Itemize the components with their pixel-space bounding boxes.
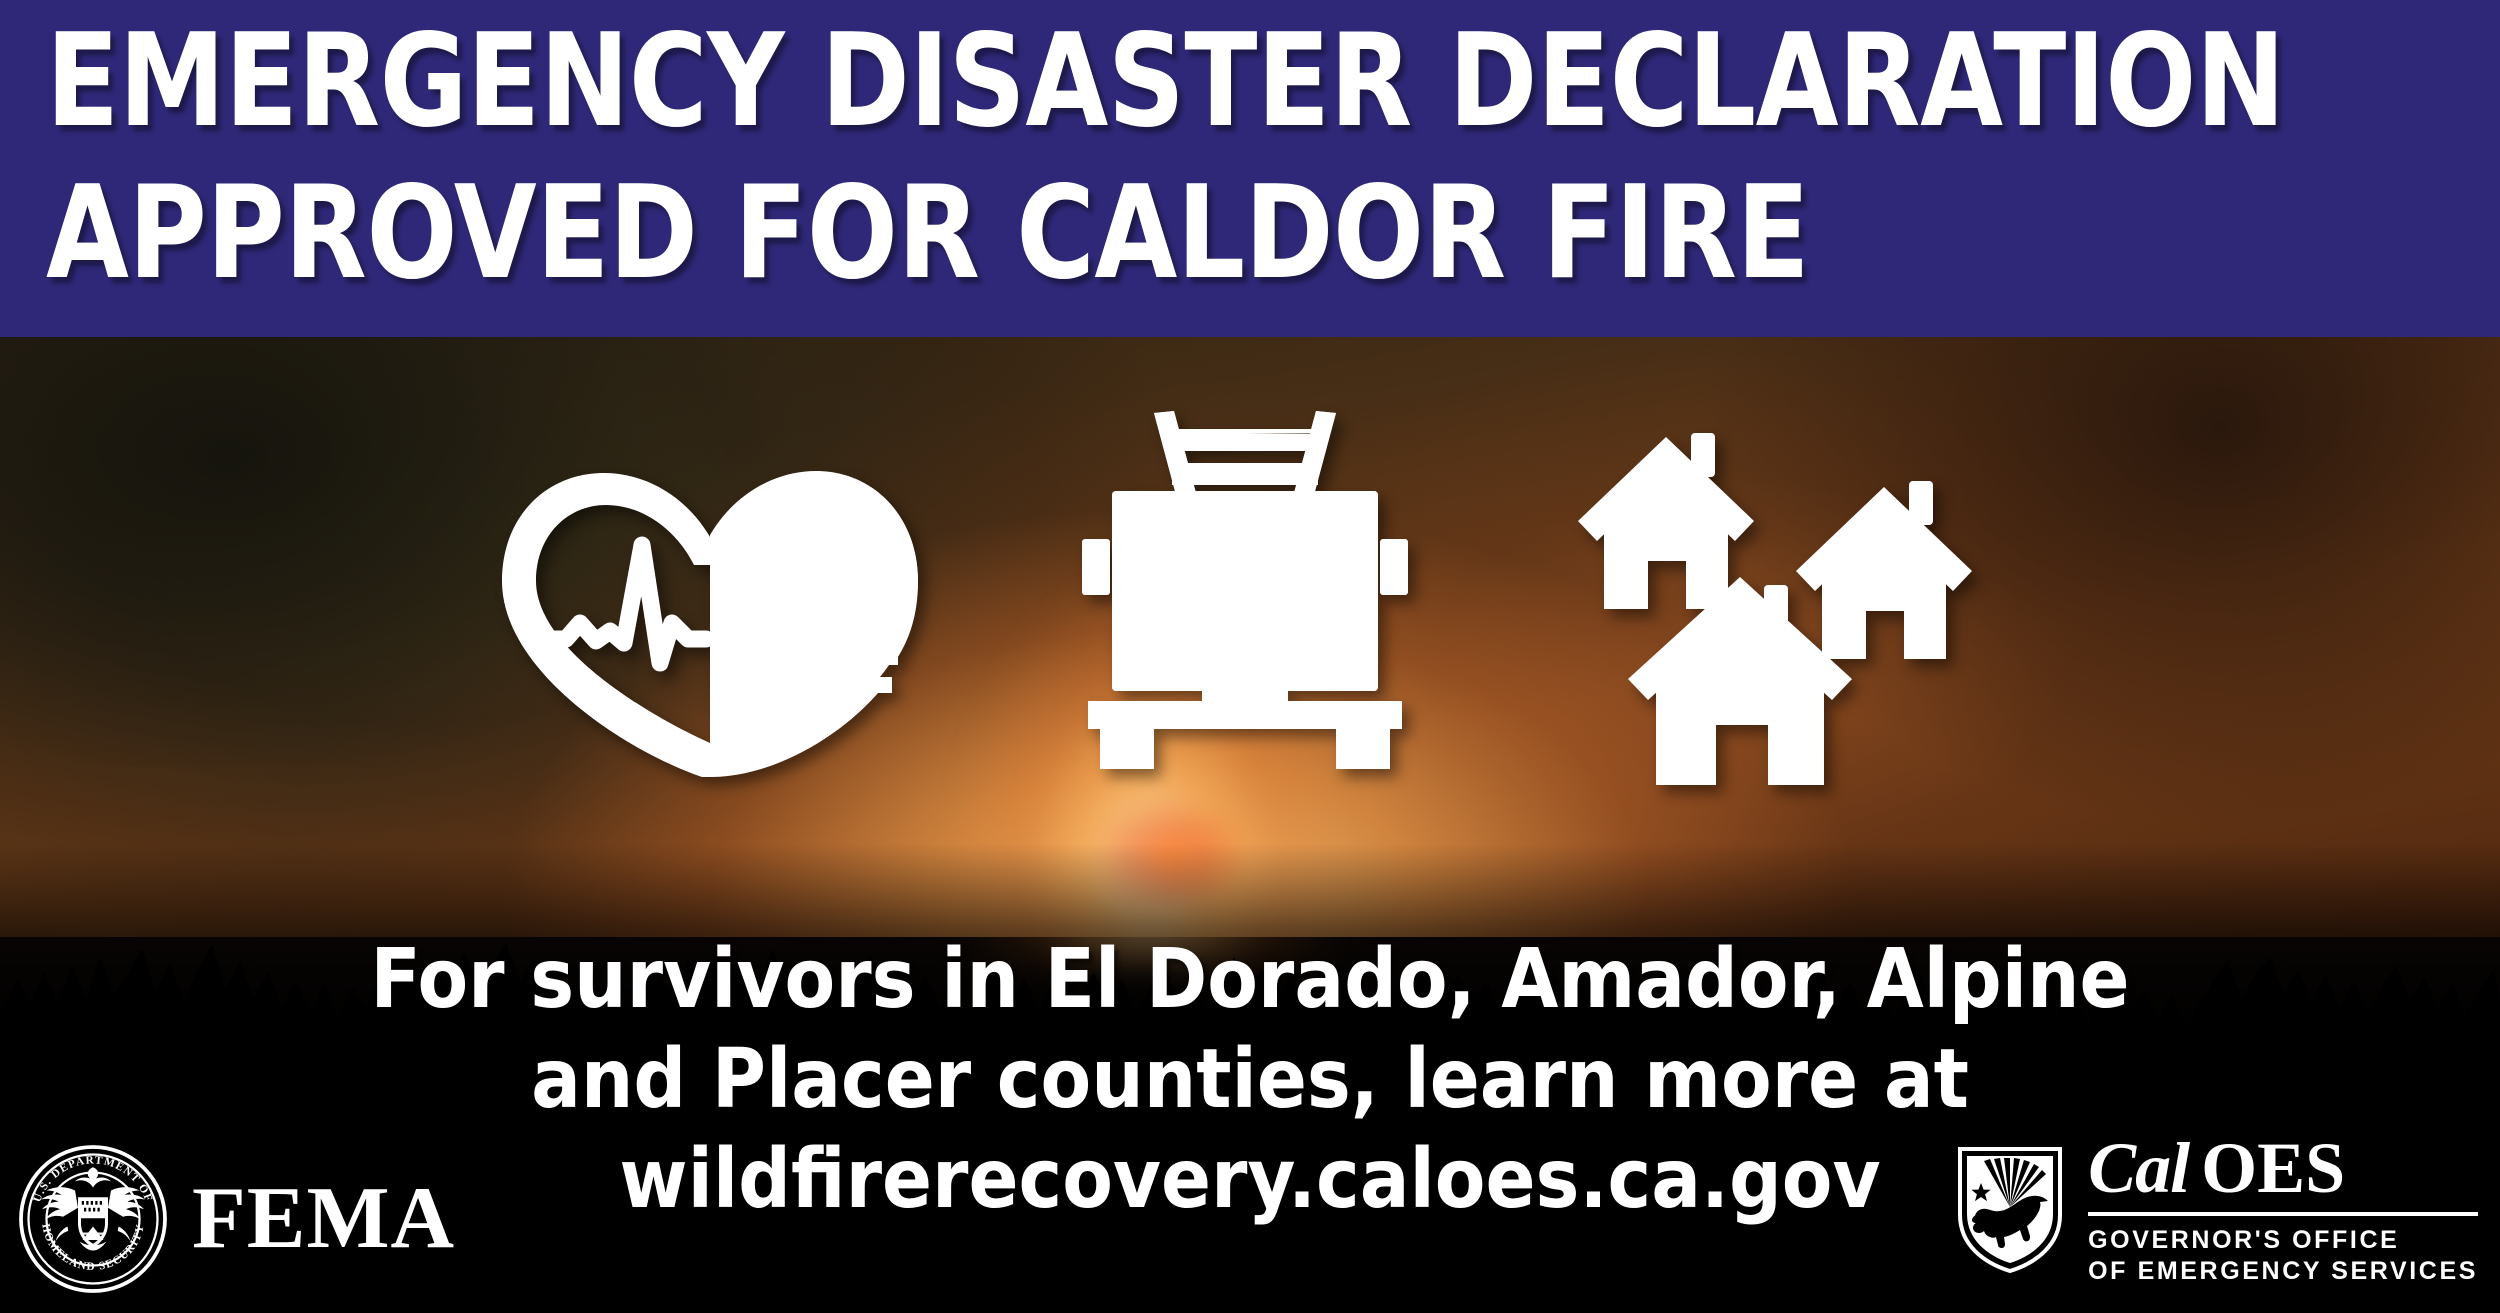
caloes-subtitle-line-2: OF EMERGENCY SERVICES [2088,1256,2478,1287]
body-line-2: and Placer counties, learn more at [0,1030,2500,1130]
fire-truck-icon [1080,405,1410,805]
houses-icon [1570,425,2000,785]
caloes-cal-text: Cal [2088,1128,2189,1208]
caloes-divider [2088,1212,2478,1216]
dhs-seal-icon: U.S. DEPARTMENT OF HOMELAND SECURITY [18,1144,168,1294]
fema-wordmark: FEMA [192,1175,455,1263]
caloes-oes-text: OES [2201,1128,2345,1208]
california-bear-shield-icon [1954,1143,2066,1275]
heart-pulse-icon [500,425,920,785]
header-band: EMERGENCY DISASTER DECLARATION APPROVED … [0,0,2500,337]
headline-line-2: APPROVED FOR CALDOR FIRE [46,158,2297,310]
caloes-wordmark: CalOES [2088,1131,2478,1205]
page-title: EMERGENCY DISASTER DECLARATION APPROVED … [46,6,2297,310]
icon-row [0,380,2500,830]
caloes-text-block: CalOES GOVERNOR'S OFFICE OF EMERGENCY SE… [2088,1131,2478,1287]
headline-line-1: EMERGENCY DISASTER DECLARATION [46,6,2297,158]
fema-logo: U.S. DEPARTMENT OF HOMELAND SECURITY [18,1143,455,1295]
caloes-logo: CalOES GOVERNOR'S OFFICE OF EMERGENCY SE… [1954,1131,2478,1287]
poster-graphic: EMERGENCY DISASTER DECLARATION APPROVED … [0,0,2500,1313]
caloes-subtitle-line-1: GOVERNOR'S OFFICE [2088,1225,2478,1256]
body-line-1: For survivors in El Dorado, Amador, Alpi… [0,930,2500,1030]
caloes-subtitle: GOVERNOR'S OFFICE OF EMERGENCY SERVICES [2088,1225,2478,1287]
